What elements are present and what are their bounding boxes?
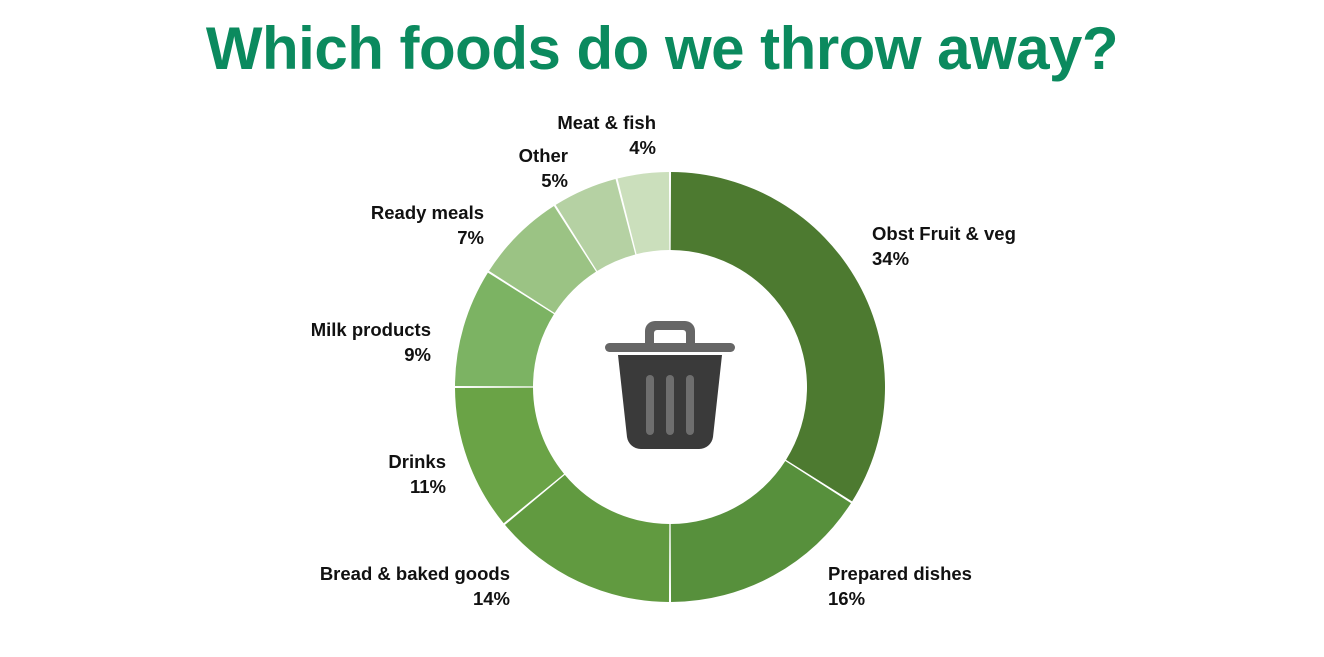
slice-category-drinks: Drinks bbox=[388, 450, 446, 475]
slice-label-ready-meals: Ready meals 7% bbox=[371, 201, 484, 250]
slice-percent-drinks: 11% bbox=[388, 475, 446, 500]
slice-label-meat-fish: Meat & fish 4% bbox=[557, 111, 656, 160]
slice-category-fruit-veg: Obst Fruit & veg bbox=[872, 222, 1016, 247]
slice-percent-meat-fish: 4% bbox=[557, 136, 656, 161]
slice-percent-prepared-dishes: 16% bbox=[828, 587, 972, 612]
slice-percent-bread-baked-goods: 14% bbox=[320, 587, 510, 612]
slice-percent-ready-meals: 7% bbox=[371, 226, 484, 251]
slice-percent-milk-products: 9% bbox=[311, 343, 431, 368]
slice-category-prepared-dishes: Prepared dishes bbox=[828, 562, 972, 587]
page-title: Which foods do we throw away? bbox=[0, 16, 1324, 82]
slice-category-milk-products: Milk products bbox=[311, 318, 431, 343]
slice-label-bread-baked-goods: Bread & baked goods 14% bbox=[320, 562, 510, 611]
donut-slice-fruit-veg[interactable] bbox=[671, 172, 885, 501]
slice-percent-fruit-veg: 34% bbox=[872, 247, 1016, 272]
donut-chart bbox=[455, 172, 885, 602]
slice-category-ready-meals: Ready meals bbox=[371, 201, 484, 226]
slice-category-bread-baked-goods: Bread & baked goods bbox=[320, 562, 510, 587]
donut-chart-svg bbox=[455, 172, 885, 602]
slice-label-fruit-veg: Obst Fruit & veg 34% bbox=[872, 222, 1016, 271]
slice-label-prepared-dishes: Prepared dishes 16% bbox=[828, 562, 972, 611]
slice-label-milk-products: Milk products 9% bbox=[311, 318, 431, 367]
slice-percent-other: 5% bbox=[519, 169, 568, 194]
slice-label-drinks: Drinks 11% bbox=[388, 450, 446, 499]
slice-category-meat-fish: Meat & fish bbox=[557, 111, 656, 136]
